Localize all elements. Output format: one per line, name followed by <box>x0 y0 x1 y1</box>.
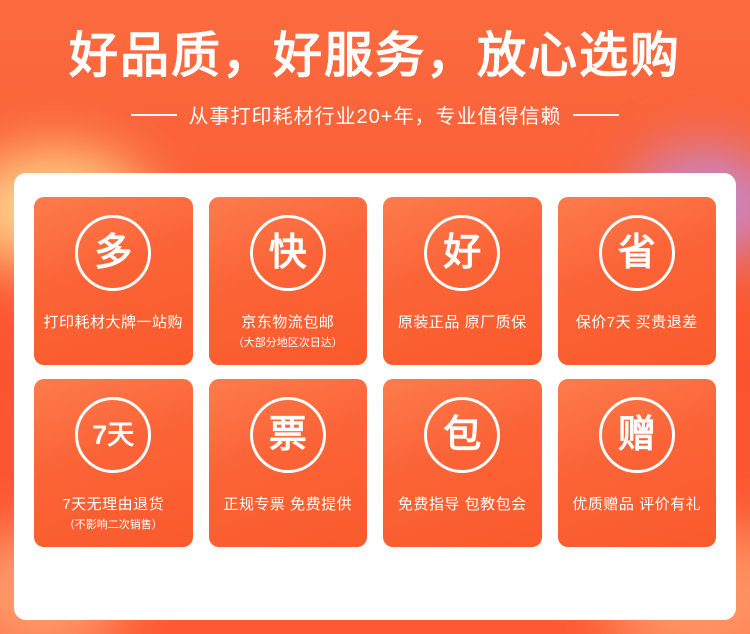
badge-label: 票 <box>269 416 307 454</box>
rule-left-icon <box>131 114 177 116</box>
badge-label: 省 <box>618 234 656 272</box>
badge-label: 7天 <box>92 422 134 449</box>
benefit-tile: 7天 7天无理由退货 （不影响二次销售） <box>34 379 193 547</box>
badge-circle-icon: 7天 <box>75 397 151 473</box>
badge-label: 包 <box>443 416 481 454</box>
badge-circle-icon: 好 <box>424 215 500 291</box>
benefit-tile: 好 原装正品 原厂质保 <box>383 197 542 365</box>
benefit-caption: 打印耗材大牌一站购 <box>43 313 183 333</box>
benefit-caption: 免费指导 包教包会 <box>398 495 527 515</box>
page-title: 好品质，好服务，放心选购 <box>0 26 750 86</box>
badge-circle-icon: 省 <box>599 215 675 291</box>
benefit-note: （大部分地区次日达） <box>233 335 343 351</box>
benefit-caption: 7天无理由退货 <box>62 495 164 515</box>
badge-label: 好 <box>443 234 481 272</box>
benefit-note: （不影响二次销售） <box>64 517 163 533</box>
subtitle-row: 从事打印耗材行业20+年，专业值得信赖 <box>0 100 750 129</box>
badge-label: 多 <box>94 234 132 272</box>
benefit-caption: 正规专票 免费提供 <box>223 495 352 515</box>
benefit-tile: 多 打印耗材大牌一站购 <box>34 197 193 365</box>
badge-label: 快 <box>269 234 307 272</box>
badge-circle-icon: 快 <box>250 215 326 291</box>
promo-banner: 好品质，好服务，放心选购 从事打印耗材行业20+年，专业值得信赖 多 打印耗材大… <box>0 0 750 634</box>
benefits-card: 多 打印耗材大牌一站购 快 京东物流包邮 （大部分地区次日达） 好 原装正品 原… <box>14 173 736 620</box>
service-hours-text: 客服在线时间：全年365天 每天08：00-24：00 <box>0 562 750 597</box>
page-subtitle: 从事打印耗材行业20+年，专业值得信赖 <box>189 100 562 129</box>
banner-header: 好品质，好服务，放心选购 从事打印耗材行业20+年，专业值得信赖 <box>0 0 750 160</box>
benefit-tile: 赠 优质赠品 评价有礼 <box>558 379 717 547</box>
benefit-caption: 优质赠品 评价有礼 <box>572 495 701 515</box>
badge-circle-icon: 多 <box>75 215 151 291</box>
badge-label: 赠 <box>618 416 656 454</box>
benefit-caption: 原装正品 原厂质保 <box>398 313 527 333</box>
rule-right-icon <box>573 114 619 116</box>
badge-circle-icon: 赠 <box>599 397 675 473</box>
benefits-grid: 多 打印耗材大牌一站购 快 京东物流包邮 （大部分地区次日达） 好 原装正品 原… <box>34 197 716 547</box>
benefit-caption: 保价7天 买贵退差 <box>576 313 698 333</box>
benefit-tile: 包 免费指导 包教包会 <box>383 379 542 547</box>
benefit-tile: 省 保价7天 买贵退差 <box>558 197 717 365</box>
benefit-tile: 票 正规专票 免费提供 <box>209 379 368 547</box>
benefit-tile: 快 京东物流包邮 （大部分地区次日达） <box>209 197 368 365</box>
benefit-caption: 京东物流包邮 <box>241 313 334 333</box>
badge-circle-icon: 票 <box>250 397 326 473</box>
badge-circle-icon: 包 <box>424 397 500 473</box>
